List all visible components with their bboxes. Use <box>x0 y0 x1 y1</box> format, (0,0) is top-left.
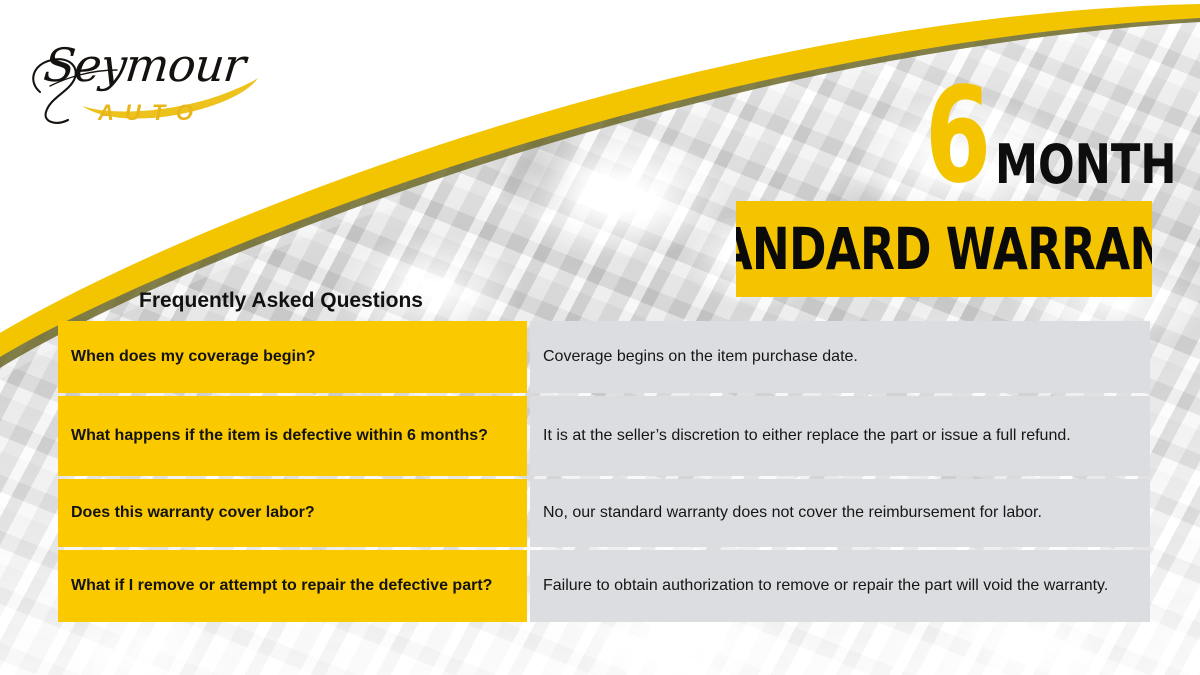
faq-answer-text: Coverage begins on the item purchase dat… <box>543 347 1136 368</box>
logo-wordmark: Seymour <box>41 38 247 92</box>
logo-subtitle: AUTO <box>98 100 204 126</box>
faq-question-cell: Does this warranty cover labor? <box>58 479 527 547</box>
warranty-title-banner: STANDARD WARRANTY <box>736 201 1152 297</box>
faq-heading: Frequently Asked Questions <box>139 289 423 313</box>
table-row: What if I remove or attempt to repair th… <box>58 550 1150 622</box>
brand-logo[interactable]: Seymour AUTO <box>22 20 272 130</box>
table-row: Does this warranty cover labor? No, our … <box>58 479 1150 547</box>
faq-answer-cell: Failure to obtain authorization to remov… <box>530 550 1150 622</box>
faq-answer-text: It is at the seller’s discretion to eith… <box>543 426 1136 447</box>
faq-question-cell: What if I remove or attempt to repair th… <box>58 550 527 622</box>
faq-answer-text: No, our standard warranty does not cover… <box>543 503 1136 524</box>
faq-answer-cell: It is at the seller’s discretion to eith… <box>530 396 1150 476</box>
duration-number: 6 <box>925 82 991 190</box>
faq-answer-cell: Coverage begins on the item purchase dat… <box>530 321 1150 393</box>
faq-answer-cell: No, our standard warranty does not cover… <box>530 479 1150 547</box>
faq-answer-text: Failure to obtain authorization to remov… <box>543 576 1136 597</box>
duration-headline: 6 MONTH <box>925 70 1200 190</box>
warranty-title-text: STANDARD WARRANTY <box>736 220 1152 278</box>
faq-question-text: What if I remove or attempt to repair th… <box>71 576 492 597</box>
faq-question-text: What happens if the item is defective wi… <box>71 426 488 447</box>
faq-question-cell: When does my coverage begin? <box>58 321 527 393</box>
faq-question-text: Does this warranty cover labor? <box>71 503 315 524</box>
faq-question-cell: What happens if the item is defective wi… <box>58 396 527 476</box>
faq-question-text: When does my coverage begin? <box>71 347 316 368</box>
faq-table: When does my coverage begin? Coverage be… <box>58 321 1150 622</box>
warranty-slide: Seymour AUTO 6 MONTH STANDARD WARRANTY F… <box>0 0 1200 675</box>
duration-unit: MONTH <box>995 142 1177 190</box>
table-row: What happens if the item is defective wi… <box>58 396 1150 476</box>
table-row: When does my coverage begin? Coverage be… <box>58 321 1150 393</box>
